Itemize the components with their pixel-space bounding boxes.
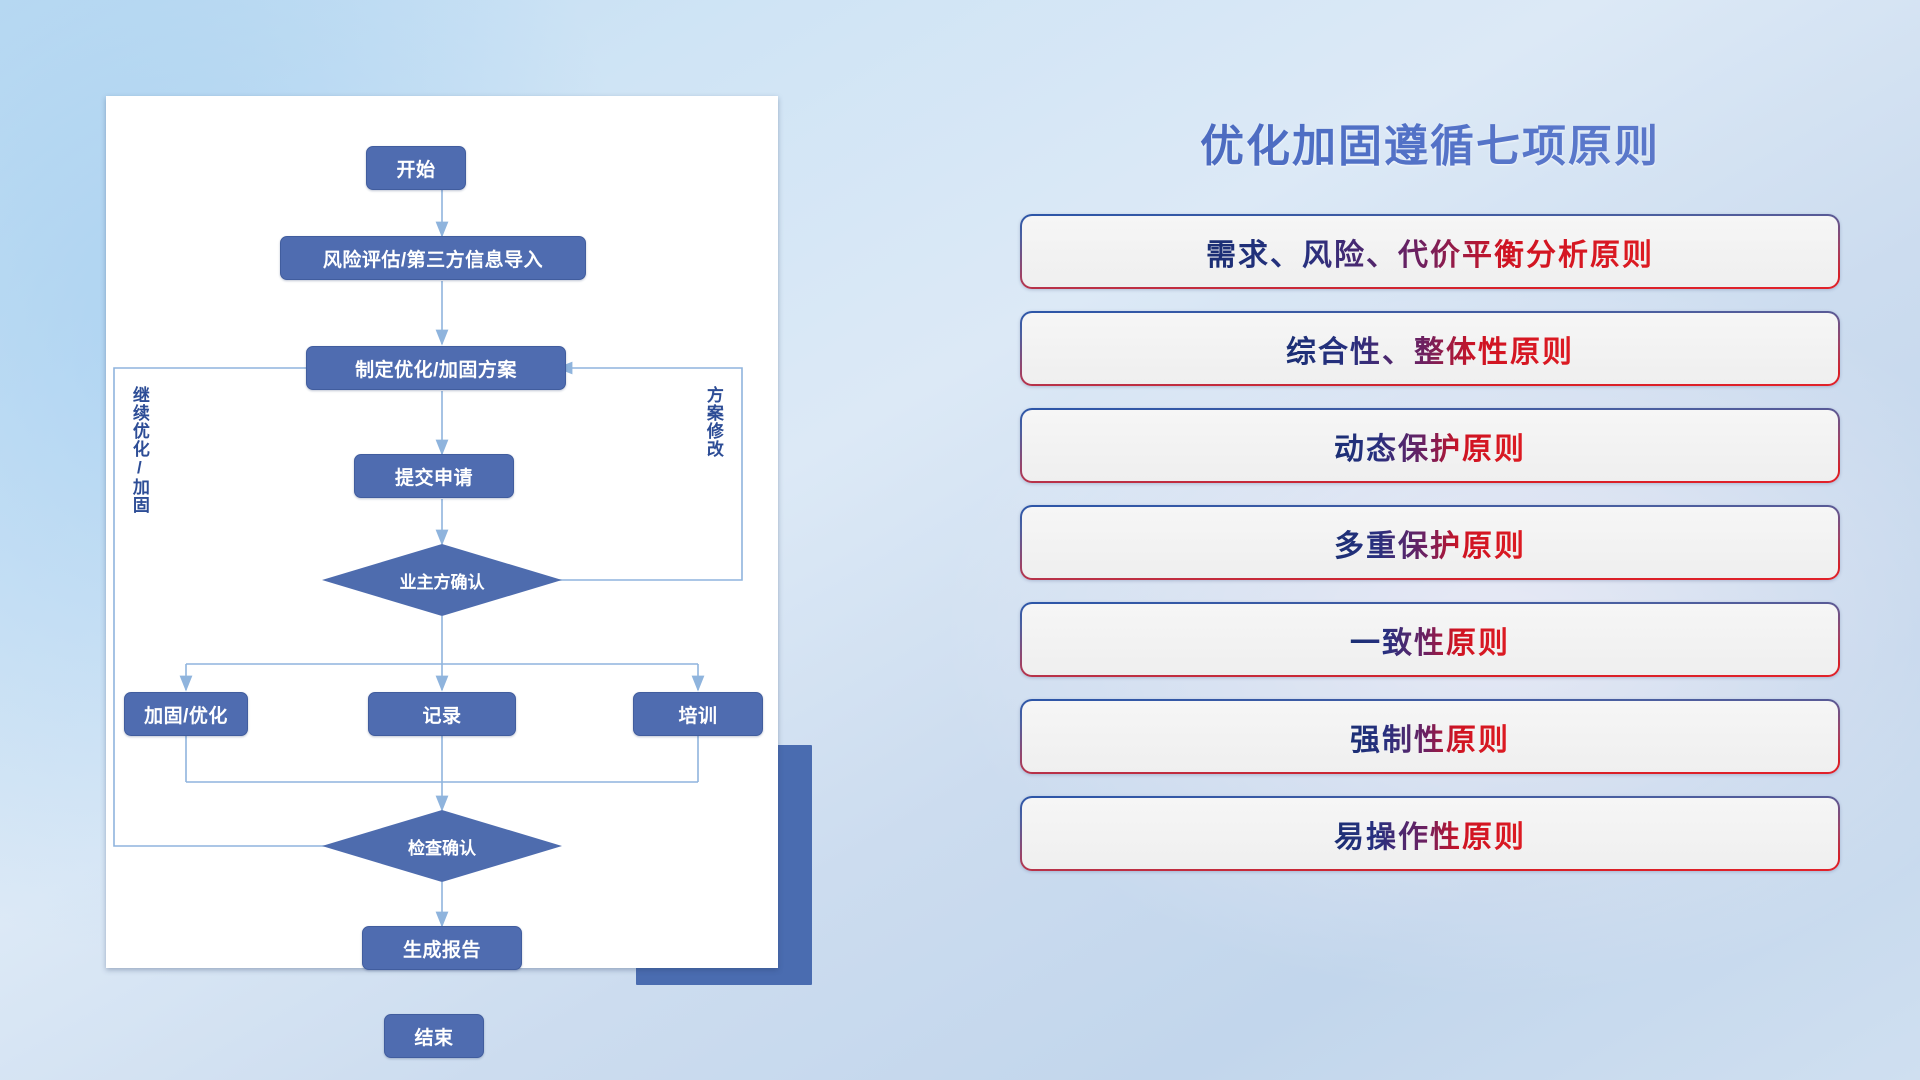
principle-label: 动态保护原则 <box>1334 424 1526 468</box>
flow-node-label: 加固/优化 <box>144 701 228 728</box>
principle-label: 强制性原则 <box>1350 715 1510 759</box>
flow-node-label: 结束 <box>414 1023 453 1050</box>
flow-node-label: 制定优化/加固方案 <box>355 355 517 382</box>
flow-node-start[interactable]: 开始 <box>366 146 466 190</box>
flow-node-label: 检查确认 <box>408 834 476 859</box>
principle-label: 多重保护原则 <box>1334 521 1526 565</box>
principle-item-inner: 动态保护原则 <box>1022 410 1838 481</box>
principles-panel: 优化加固遵循七项原则 需求、风险、代价平衡分析原则 综合性、整体性原则 动态保护… <box>1020 96 1840 996</box>
flowchart-card: 开始 风险评估/第三方信息导入 制定优化/加固方案 提交申请 业主方确认 加固/… <box>106 96 778 968</box>
flow-node-label: 提交申请 <box>395 463 473 490</box>
flow-node-risk-assessment[interactable]: 风险评估/第三方信息导入 <box>280 236 586 280</box>
flow-node-generate-report[interactable]: 生成报告 <box>362 926 522 970</box>
principle-item[interactable]: 易操作性原则 <box>1020 796 1840 871</box>
flow-node-reinforce-optimize[interactable]: 加固/优化 <box>124 692 248 736</box>
flow-node-label: 开始 <box>396 155 435 182</box>
flow-node-label: 记录 <box>422 701 461 728</box>
edge-label-continue-optimize: 继续优化/加固 <box>130 386 148 514</box>
principles-list: 需求、风险、代价平衡分析原则 综合性、整体性原则 动态保护原则 多重保护原则 <box>1020 214 1840 893</box>
flow-node-label: 培训 <box>678 701 717 728</box>
slide-canvas: 开始 风险评估/第三方信息导入 制定优化/加固方案 提交申请 业主方确认 加固/… <box>0 0 1920 1080</box>
flowchart: 开始 风险评估/第三方信息导入 制定优化/加固方案 提交申请 业主方确认 加固/… <box>106 96 778 968</box>
principle-item[interactable]: 综合性、整体性原则 <box>1020 311 1840 386</box>
flow-node-label: 业主方确认 <box>400 568 485 593</box>
principle-label: 综合性、整体性原则 <box>1286 327 1574 371</box>
principle-item[interactable]: 动态保护原则 <box>1020 408 1840 483</box>
principle-item-inner: 一致性原则 <box>1022 604 1838 675</box>
principle-item-inner: 综合性、整体性原则 <box>1022 313 1838 384</box>
principle-label: 一致性原则 <box>1350 618 1510 662</box>
flow-node-submit-application[interactable]: 提交申请 <box>354 454 514 498</box>
principle-item[interactable]: 多重保护原则 <box>1020 505 1840 580</box>
flow-node-training[interactable]: 培训 <box>633 692 763 736</box>
flow-node-record[interactable]: 记录 <box>368 692 516 736</box>
principle-label: 易操作性原则 <box>1334 812 1526 856</box>
flow-node-end[interactable]: 结束 <box>384 1014 484 1058</box>
principle-item[interactable]: 强制性原则 <box>1020 699 1840 774</box>
principle-item-inner: 强制性原则 <box>1022 701 1838 772</box>
principle-item[interactable]: 需求、风险、代价平衡分析原则 <box>1020 214 1840 289</box>
principle-item[interactable]: 一致性原则 <box>1020 602 1840 677</box>
principle-item-inner: 易操作性原则 <box>1022 798 1838 869</box>
flow-node-label: 风险评估/第三方信息导入 <box>323 245 543 272</box>
principle-item-inner: 需求、风险、代价平衡分析原则 <box>1022 216 1838 287</box>
principle-item-inner: 多重保护原则 <box>1022 507 1838 578</box>
flow-node-plan[interactable]: 制定优化/加固方案 <box>306 346 566 390</box>
edge-label-plan-revision: 方案修改 <box>704 386 722 458</box>
principles-title: 优化加固遵循七项原则 <box>1020 110 1840 174</box>
principle-label: 需求、风险、代价平衡分析原则 <box>1206 230 1654 274</box>
flow-node-label: 生成报告 <box>403 935 481 962</box>
